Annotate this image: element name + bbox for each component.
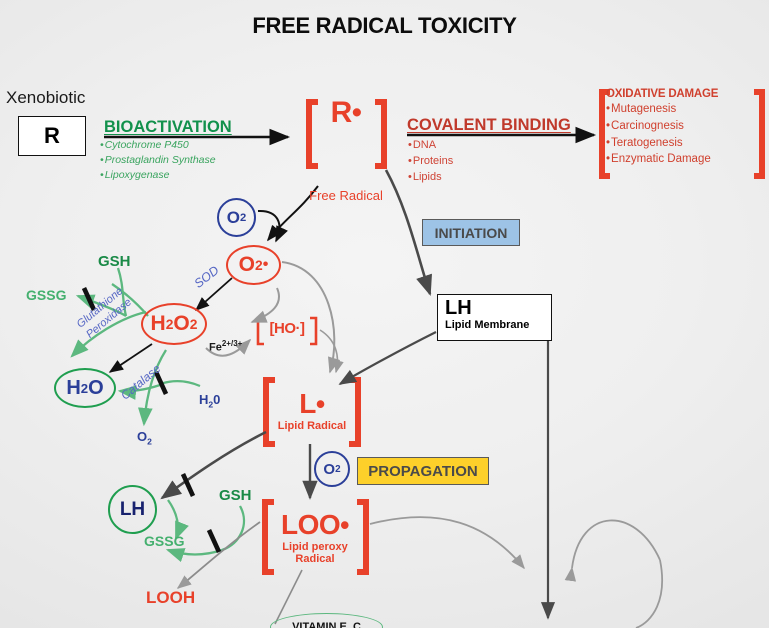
oxidative-damage-item: Enzymatic Damage [606,151,718,168]
initiation-tag[interactable]: INITIATION [422,219,520,246]
curve-propagation-right-tail [636,560,662,628]
covalent-binding-heading: COVALENT BINDING [407,116,571,135]
lipid-membrane-caption: Lipid Membrane [445,319,551,331]
gsh-label-top: GSH [98,253,131,270]
inhibit-bar-looh [209,530,219,552]
arrow-cycle-to-gssg2 [168,550,222,555]
lipid-radical-species: L• Lipid Radical [262,382,362,433]
free-radical-caption: Free Radical [300,188,392,203]
water-species: H2O [54,368,116,408]
curve-propagation-left [370,517,524,568]
bioactivation-heading: BIOACTIVATION [104,118,232,137]
superoxide-species: O2• [226,245,281,285]
oxidative-damage-item: Carcinognesis [606,118,718,135]
radical-dot-icon: • [263,256,269,274]
bioactivation-enzyme-item: Lipoxygenase [100,168,216,183]
covalent-binding-target-item: Lipids [408,169,453,185]
covalent-binding-target-list: DNA Proteins Lipids [408,137,453,185]
free-radical-species: R• Free Radical [300,98,392,203]
radical-dot-icon: • [352,97,361,129]
iron-label: Fe2+/3+ [209,339,242,354]
oxidative-damage-panel: OXIDATIVE DAMAGE Mutagenesis Carcinognes… [606,88,718,168]
free-radical-formula: R• [300,98,392,128]
oxidative-damage-item: Teratogenesis [606,135,718,152]
oxidative-damage-item: Mutagenesis [606,101,718,118]
gssg-label-bottom: GSSG [144,533,184,549]
lipid-peroxy-radical-species: LOO• Lipid peroxy Radical [262,505,368,566]
lipid-peroxy-radical-caption-line2: Radical [262,554,368,566]
diagram-canvas: FREE RADICAL TOXICITY Xenobiotic R BIOAC… [0,0,769,628]
lipid-radical-caption: Lipid Radical [262,421,362,433]
lipid-radical-formula: L• [262,390,362,418]
arrow-membrane-to-lipid-radical [340,332,436,384]
hydrogen-peroxide-species: H2O2 [141,303,207,345]
hydroxyl-radical-species: [HO·] [256,316,318,336]
arrow-water-input-catalase [160,381,200,386]
bioactivation-enzyme-list: Cytochrome P450 Prostaglandin Synthase L… [100,138,216,183]
gssg-label-top: GSSG [26,287,66,303]
radical-dot-icon: • [340,510,349,540]
gsh-label-bottom: GSH [219,487,252,504]
oxidative-damage-heading: OXIDATIVE DAMAGE [606,88,718,100]
page-title: FREE RADICAL TOXICITY [0,13,769,39]
curve-propagation-right [572,520,660,568]
water-input-label: H20 [199,392,220,410]
looh-label: LOOH [146,588,195,608]
xenobiotic-box[interactable]: R [18,116,86,156]
bioactivation-enzyme-item: Cytochrome P450 [100,138,216,153]
oxidative-damage-list: Mutagenesis Carcinognesis Teratogenesis … [606,101,718,168]
radical-dot-icon: • [316,389,325,419]
lipid-species: LH [108,485,157,534]
oxygen-propagation-species: O2 [314,451,350,487]
covalent-binding-target-item: DNA [408,137,453,153]
propagation-tag[interactable]: PROPAGATION [357,457,489,485]
lipid-membrane-formula: LH [445,298,551,318]
lipid-membrane-box[interactable]: LH Lipid Membrane [437,294,552,341]
oxygen-species: O2 [217,198,256,237]
xenobiotic-label: Xenobiotic [6,88,85,108]
arrow-o2-to-superoxide [258,211,279,241]
lipid-peroxy-radical-formula: LOO• [262,511,368,539]
bioactivation-enzyme-item: Prostaglandin Synthase [100,153,216,168]
covalent-binding-target-item: Proteins [408,153,453,169]
oxygen-released-label: O2 [137,429,152,447]
hydroxyl-radical-formula: [HO·] [256,321,318,336]
